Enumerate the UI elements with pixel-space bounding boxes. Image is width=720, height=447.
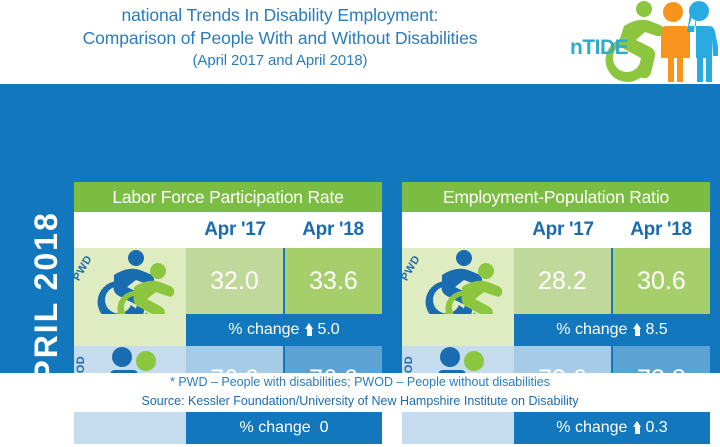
change-value: 0.3 bbox=[645, 419, 667, 436]
change-text-pwod: % change 0 bbox=[186, 412, 382, 444]
change-text-pwd: % change5.0 bbox=[186, 314, 382, 346]
change-row-spacer bbox=[74, 314, 186, 346]
value-pwd-apr17: 28.2 bbox=[514, 248, 611, 314]
header: national Trends In Disability Employment… bbox=[0, 0, 720, 84]
column-header-apr18: Apr '18 bbox=[612, 212, 710, 248]
column-header-spacer bbox=[402, 212, 514, 248]
table-row-pwd: PWD 28.2 30.6 bbox=[402, 248, 710, 314]
change-label: % change bbox=[556, 419, 627, 436]
column-header-apr17: Apr '17 bbox=[514, 212, 612, 248]
footer: * PWD – People with disabilities; PWOD –… bbox=[0, 373, 720, 412]
change-text-pwd: % change8.5 bbox=[514, 314, 710, 346]
change-value: 5.0 bbox=[317, 321, 339, 338]
column-header-apr18: Apr '18 bbox=[284, 212, 382, 248]
content-band: APRIL 2018 Labor Force Participation Rat… bbox=[0, 84, 720, 373]
table-row-pwd: PWD 32.0 33.6 bbox=[74, 248, 382, 314]
footnote-text: * PWD – People with disabilities; PWOD –… bbox=[0, 373, 720, 392]
title-line-1: national Trends In Disability Employment… bbox=[0, 4, 560, 27]
column-header-apr17: Apr '17 bbox=[186, 212, 284, 248]
change-text-pwod: % change0.3 bbox=[514, 412, 710, 444]
change-row-spacer bbox=[74, 412, 186, 444]
pwd-icon-cell: PWD bbox=[402, 248, 514, 314]
value-pwd-apr17: 32.0 bbox=[186, 248, 283, 314]
column-header-spacer bbox=[74, 212, 186, 248]
column-headers: Apr '17 Apr '18 bbox=[402, 212, 710, 248]
change-row-pwod: % change0.3 bbox=[402, 412, 710, 444]
value-pwd-apr18: 30.6 bbox=[613, 248, 710, 314]
title-line-3: (April 2017 and April 2018) bbox=[0, 50, 560, 72]
change-row-spacer bbox=[402, 412, 514, 444]
pwd-icon-cell: PWD bbox=[74, 248, 186, 314]
change-label: % change bbox=[556, 321, 627, 338]
change-value: 0 bbox=[320, 419, 329, 436]
change-row-pwd: % change8.5 bbox=[402, 314, 710, 346]
change-value: 8.5 bbox=[645, 321, 667, 338]
change-row-pwod: % change 0 bbox=[74, 412, 382, 444]
panel-title: Labor Force Participation Rate bbox=[74, 182, 382, 212]
value-pwd-apr18: 33.6 bbox=[285, 248, 382, 314]
title-line-2: Comparison of People With and Without Di… bbox=[0, 27, 560, 50]
ntide-logo: nTIDE bbox=[566, 0, 718, 82]
source-text: Source: Kessler Foundation/University of… bbox=[0, 392, 720, 410]
logo-wordmark: nTIDE bbox=[570, 36, 628, 60]
arrow-up-icon bbox=[633, 421, 642, 434]
page-title: national Trends In Disability Employment… bbox=[0, 4, 560, 72]
arrow-up-icon bbox=[305, 323, 314, 336]
change-label: % change bbox=[240, 419, 311, 436]
arrow-up-icon bbox=[633, 323, 642, 336]
change-row-spacer bbox=[402, 314, 514, 346]
change-label: % change bbox=[228, 321, 299, 338]
panel-title: Employment-Population Ratio bbox=[402, 182, 710, 212]
change-row-pwd: % change5.0 bbox=[74, 314, 382, 346]
column-headers: Apr '17 Apr '18 bbox=[74, 212, 382, 248]
